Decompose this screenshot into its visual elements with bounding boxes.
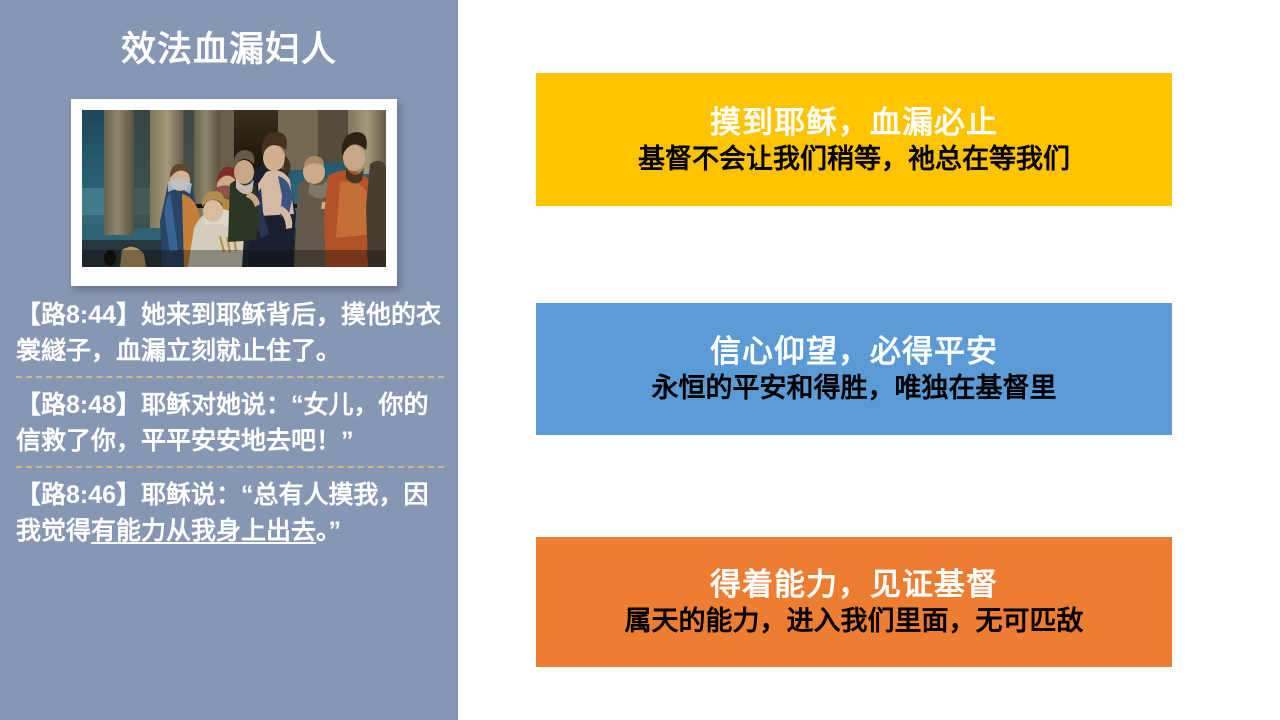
scripture-separator-2: [16, 466, 444, 468]
scripture-luke-8-48: 【路8:48】耶稣对她说：“女儿，你的信救了你，平平安安地去吧！”: [14, 388, 446, 459]
painting-artwork-icon: [82, 110, 386, 267]
scripture-luke-8-46-emphasis: 有能力从我身上出去: [91, 517, 316, 545]
scripture-list: 【路8:44】她来到耶稣背后，摸他的衣裳繸子，血漏立刻就止住了。 【路8:48】…: [14, 298, 446, 549]
power-witness-card: 得着能力，见证基督 属天的能力，进入我们里面，无可匹敌: [536, 537, 1172, 667]
slide-canvas: 效法血漏妇人: [0, 0, 1280, 720]
page-title: 效法血漏妇人: [0, 28, 458, 72]
faith-peace-card-title: 信心仰望，必得平安: [710, 333, 998, 370]
touch-jesus-card: 摸到耶稣，血漏必止 基督不会让我们稍等，祂总在等我们: [536, 73, 1172, 206]
power-witness-card-subtitle: 属天的能力，进入我们里面，无可匹敌: [625, 605, 1084, 637]
left-sidebar-panel: 效法血漏妇人: [0, 0, 458, 720]
scripture-luke-8-46-text-tail: 。”: [316, 517, 341, 545]
faith-peace-card-subtitle: 永恒的平安和得胜，唯独在基督里: [652, 372, 1057, 404]
scripture-luke-8-44: 【路8:44】她来到耶稣背后，摸他的衣裳繸子，血漏立刻就止住了。: [14, 298, 446, 369]
picture-frame: [71, 99, 397, 286]
jesus-healing-bleeding-woman-painting: [82, 110, 386, 267]
touch-jesus-card-title: 摸到耶稣，血漏必止: [710, 104, 998, 141]
scripture-luke-8-46: 【路8:46】耶稣说：“总有人摸我，因我觉得有能力从我身上出去。”: [14, 478, 446, 549]
faith-peace-card: 信心仰望，必得平安 永恒的平安和得胜，唯独在基督里: [536, 303, 1172, 435]
power-witness-card-title: 得着能力，见证基督: [710, 566, 998, 603]
touch-jesus-card-subtitle: 基督不会让我们稍等，祂总在等我们: [638, 143, 1070, 175]
scripture-separator-1: [16, 376, 444, 378]
